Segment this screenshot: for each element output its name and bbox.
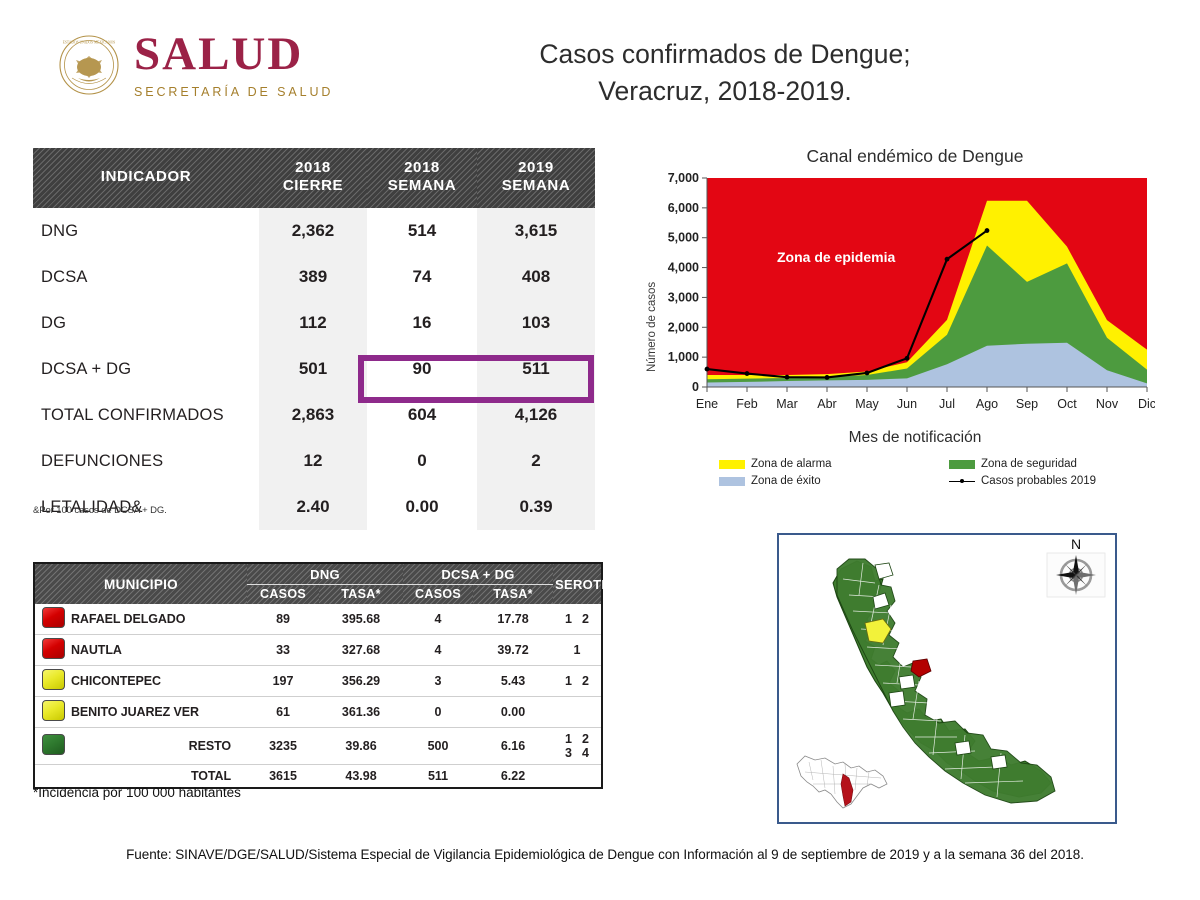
cell-dd-tasa: 5.43: [473, 666, 553, 697]
cell-dng-casos: 89: [247, 604, 319, 635]
table-row-total: TOTAL 3615 43.98 511 6.22: [35, 765, 601, 788]
cell-2018-semana: 16: [367, 300, 477, 346]
cell-2019-semana: 103: [477, 300, 595, 346]
cell-dng-tasa: 361.36: [319, 697, 403, 728]
svg-text:4,000: 4,000: [668, 261, 699, 275]
cell-dd-tasa: 6.22: [473, 765, 553, 788]
svg-text:Abr: Abr: [817, 397, 836, 411]
table-row: DEFUNCIONES 12 0 2: [33, 438, 595, 484]
cell-2019-semana: 4,126: [477, 392, 595, 438]
cell-2019-semana: 511: [477, 346, 595, 392]
row-label: DEFUNCIONES: [33, 438, 259, 484]
col-year: 2018: [371, 159, 473, 177]
cell-dng-tasa: 39.86: [319, 728, 403, 765]
legend-item-seguridad: Zona de seguridad: [949, 458, 1179, 470]
chart-annotation-zona-epidemia: Zona de epidemia: [777, 249, 895, 265]
cell-2018-cierre: 2,362: [259, 208, 367, 254]
table-row: DNG 2,362 514 3,615: [33, 208, 595, 254]
mexico-inset-map: [791, 748, 895, 814]
svg-text:Oct: Oct: [1057, 397, 1077, 411]
cell-2018-cierre: 2.40: [259, 484, 367, 530]
svg-text:Nov: Nov: [1096, 397, 1119, 411]
table-row-total-confirmados: TOTAL CONFIRMADOS 2,863 604 4,126: [33, 392, 595, 438]
col-header-dng-casos: CASOS: [247, 585, 319, 605]
risk-chip-cell: [35, 666, 69, 697]
svg-text:ESTADOS UNIDOS MEXICANOS: ESTADOS UNIDOS MEXICANOS: [63, 41, 116, 45]
risk-chip-cell: [35, 697, 69, 728]
cell-dng-casos: 197: [247, 666, 319, 697]
cell-2019-semana: 2: [477, 438, 595, 484]
cell-dng-tasa: 356.29: [319, 666, 403, 697]
table-row: DCSA 389 74 408: [33, 254, 595, 300]
mexico-coat-of-arms-icon: ESTADOS UNIDOS MEXICANOS: [58, 34, 120, 96]
legend-label: Casos probables 2019: [981, 475, 1096, 487]
cell-dng-casos: 61: [247, 697, 319, 728]
slide-canvas: ESTADOS UNIDOS MEXICANOS SALUD SECRETARÍ…: [0, 0, 1200, 900]
legend-swatch-alarma: [719, 460, 745, 469]
cell-2018-cierre: 389: [259, 254, 367, 300]
col-header-dng-tasa: TASA*: [319, 585, 403, 605]
risk-chip-icon: [42, 669, 65, 690]
svg-text:Dic: Dic: [1138, 397, 1155, 411]
logo-subtitle: SECRETARÍA DE SALUD: [134, 85, 333, 99]
cell-serotipo: [553, 765, 601, 788]
compass-north-label: N: [1071, 536, 1081, 552]
cell-2018-semana: 0.00: [367, 484, 477, 530]
cell-2018-semana: 604: [367, 392, 477, 438]
cell-municipio: TOTAL: [69, 765, 247, 788]
cell-serotipo: 1: [553, 635, 601, 666]
row-label: DCSA + DG: [33, 346, 259, 392]
chart-title: Canal endémico de Dengue: [655, 146, 1175, 167]
risk-chip-icon: [42, 607, 65, 628]
svg-text:0: 0: [692, 380, 699, 394]
risk-chip-cell: [35, 635, 69, 666]
risk-chip-cell: [35, 604, 69, 635]
cell-2018-semana: 0: [367, 438, 477, 484]
cell-2018-cierre: 12: [259, 438, 367, 484]
col-period: SEMANA: [371, 177, 473, 195]
svg-text:Mar: Mar: [776, 397, 798, 411]
legend-label: Zona de seguridad: [981, 458, 1077, 470]
legend-swatch-exito: [719, 477, 745, 486]
cell-dd-casos: 500: [403, 728, 473, 765]
col-header-2019-semana: 2019 SEMANA: [477, 148, 595, 208]
row-label: DCSA: [33, 254, 259, 300]
cell-municipio: RESTO: [69, 728, 247, 765]
chart-plot: 01,0002,0003,0004,0005,0006,0007,000EneF…: [655, 172, 1155, 432]
chart-legend: Zona de alarma Zona de seguridad Zona de…: [719, 458, 1179, 487]
cell-serotipo: 12: [553, 666, 601, 697]
title-line-1: Casos confirmados de Dengue;: [480, 36, 970, 73]
legend-item-alarma: Zona de alarma: [719, 458, 949, 470]
col-header-2018-semana: 2018 SEMANA: [367, 148, 477, 208]
legend-item-casos-probables: Casos probables 2019: [949, 475, 1179, 487]
risk-chip-icon: [42, 700, 65, 721]
cell-dd-casos: 4: [403, 635, 473, 666]
table-row: RAFAEL DELGADO 89 395.68 4 17.78 12: [35, 604, 601, 635]
table-row: CHICONTEPEC 197 356.29 3 5.43 12: [35, 666, 601, 697]
cell-dd-casos: 3: [403, 666, 473, 697]
cell-dng-casos: 33: [247, 635, 319, 666]
cell-2018-cierre: 2,863: [259, 392, 367, 438]
row-label: DNG: [33, 208, 259, 254]
risk-chip-icon: [42, 734, 65, 755]
svg-text:3,000: 3,000: [668, 290, 699, 304]
cell-dd-tasa: 39.72: [473, 635, 553, 666]
cell-2018-semana: 74: [367, 254, 477, 300]
source-footnote: Fuente: SINAVE/DGE/SALUD/Sistema Especia…: [60, 847, 1150, 862]
title-line-2: Veracruz, 2018-2019.: [480, 73, 970, 110]
col-period: SEMANA: [481, 177, 591, 195]
cell-serotipo: 12: [553, 604, 601, 635]
table-row: BENITO JUAREZ VER 61 361.36 0 0.00: [35, 697, 601, 728]
cell-2018-cierre: 112: [259, 300, 367, 346]
svg-text:7,000: 7,000: [668, 172, 699, 185]
col-group-dng: DNG: [247, 564, 403, 585]
indicator-table: INDICADOR 2018 CIERRE 2018 SEMANA 2019 S…: [33, 148, 595, 530]
col-header-serotipo: SEROTIPO: [553, 564, 601, 604]
cell-dd-casos: 0: [403, 697, 473, 728]
cell-serotipo: 1234: [553, 728, 601, 765]
svg-text:1,000: 1,000: [668, 350, 699, 364]
cell-2019-semana: 408: [477, 254, 595, 300]
cell-dd-tasa: 17.78: [473, 604, 553, 635]
legend-swatch-seguridad: [949, 460, 975, 469]
col-header-dd-tasa: TASA*: [473, 585, 553, 605]
cell-municipio: NAUTLA: [69, 635, 247, 666]
cell-serotipo: [553, 697, 601, 728]
svg-text:Feb: Feb: [736, 397, 758, 411]
risk-chip-cell: [35, 765, 69, 788]
svg-text:Jun: Jun: [897, 397, 917, 411]
cell-dng-tasa: 395.68: [319, 604, 403, 635]
municipio-table-footnote: *Incidencia por 100 000 habitantes: [33, 785, 241, 800]
svg-text:Ene: Ene: [696, 397, 718, 411]
cell-dng-tasa: 43.98: [319, 765, 403, 788]
legend-label: Zona de éxito: [751, 475, 821, 487]
table-row: NAUTLA 33 327.68 4 39.72 1: [35, 635, 601, 666]
col-header-municipio: MUNICIPIO: [35, 564, 247, 604]
cell-dng-tasa: 327.68: [319, 635, 403, 666]
cell-municipio: RAFAEL DELGADO: [69, 604, 247, 635]
municipio-table-group-header: MUNICIPIO DNG DCSA + DG SEROTIPO: [35, 564, 601, 585]
cell-dd-tasa: 0.00: [473, 697, 553, 728]
cell-dd-casos: 4: [403, 604, 473, 635]
svg-text:Ago: Ago: [976, 397, 998, 411]
svg-text:Sep: Sep: [1016, 397, 1038, 411]
veracruz-map: N: [777, 533, 1117, 824]
compass-rose-icon: N: [1043, 539, 1109, 605]
svg-text:5,000: 5,000: [668, 231, 699, 245]
page-title: Casos confirmados de Dengue; Veracruz, 2…: [480, 36, 970, 109]
col-group-dcsa-dg: DCSA + DG: [403, 564, 553, 585]
cell-dd-tasa: 6.16: [473, 728, 553, 765]
cell-2018-cierre: 501: [259, 346, 367, 392]
cell-2019-semana: 3,615: [477, 208, 595, 254]
svg-text:2,000: 2,000: [668, 320, 699, 334]
col-year: 2019: [481, 159, 591, 177]
cell-dng-casos: 3235: [247, 728, 319, 765]
risk-chip-cell: [35, 728, 69, 765]
cell-2019-semana: 0.39: [477, 484, 595, 530]
svg-text:Jul: Jul: [939, 397, 955, 411]
col-header-label: INDICADOR: [101, 168, 191, 185]
table-header-row: INDICADOR 2018 CIERRE 2018 SEMANA 2019 S…: [33, 148, 595, 208]
svg-text:May: May: [855, 397, 879, 411]
endemic-channel-chart: Canal endémico de Dengue Número de casos…: [655, 140, 1175, 500]
municipio-table: MUNICIPIO DNG DCSA + DG SEROTIPO CASOS T…: [33, 562, 603, 789]
col-period: CIERRE: [263, 177, 363, 195]
cell-municipio: BENITO JUAREZ VER: [69, 697, 247, 728]
risk-chip-icon: [42, 638, 65, 659]
cell-municipio: CHICONTEPEC: [69, 666, 247, 697]
table-row: DG 112 16 103: [33, 300, 595, 346]
col-header-2018-cierre: 2018 CIERRE: [259, 148, 367, 208]
legend-item-exito: Zona de éxito: [719, 475, 949, 487]
table-row: RESTO 3235 39.86 500 6.16 1234: [35, 728, 601, 765]
salud-logo: ESTADOS UNIDOS MEXICANOS SALUD SECRETARÍ…: [58, 22, 358, 108]
cell-2018-semana: 90: [367, 346, 477, 392]
legend-marker-line: [949, 477, 975, 486]
logo-wordmark: SALUD: [134, 31, 333, 78]
col-year: 2018: [263, 159, 363, 177]
svg-text:6,000: 6,000: [668, 201, 699, 215]
chart-x-axis-label: Mes de notificación: [655, 429, 1175, 447]
legend-label: Zona de alarma: [751, 458, 832, 470]
col-header-indicador: INDICADOR: [33, 148, 259, 208]
cell-2018-semana: 514: [367, 208, 477, 254]
row-label: DG: [33, 300, 259, 346]
cell-dng-casos: 3615: [247, 765, 319, 788]
table-row: DCSA + DG 501 90 511: [33, 346, 595, 392]
col-header-dd-casos: CASOS: [403, 585, 473, 605]
row-label: TOTAL CONFIRMADOS: [33, 392, 259, 438]
cell-dd-casos: 511: [403, 765, 473, 788]
indicator-table-footnote: &Por 100 casos de DCSA + DG.: [33, 505, 167, 516]
